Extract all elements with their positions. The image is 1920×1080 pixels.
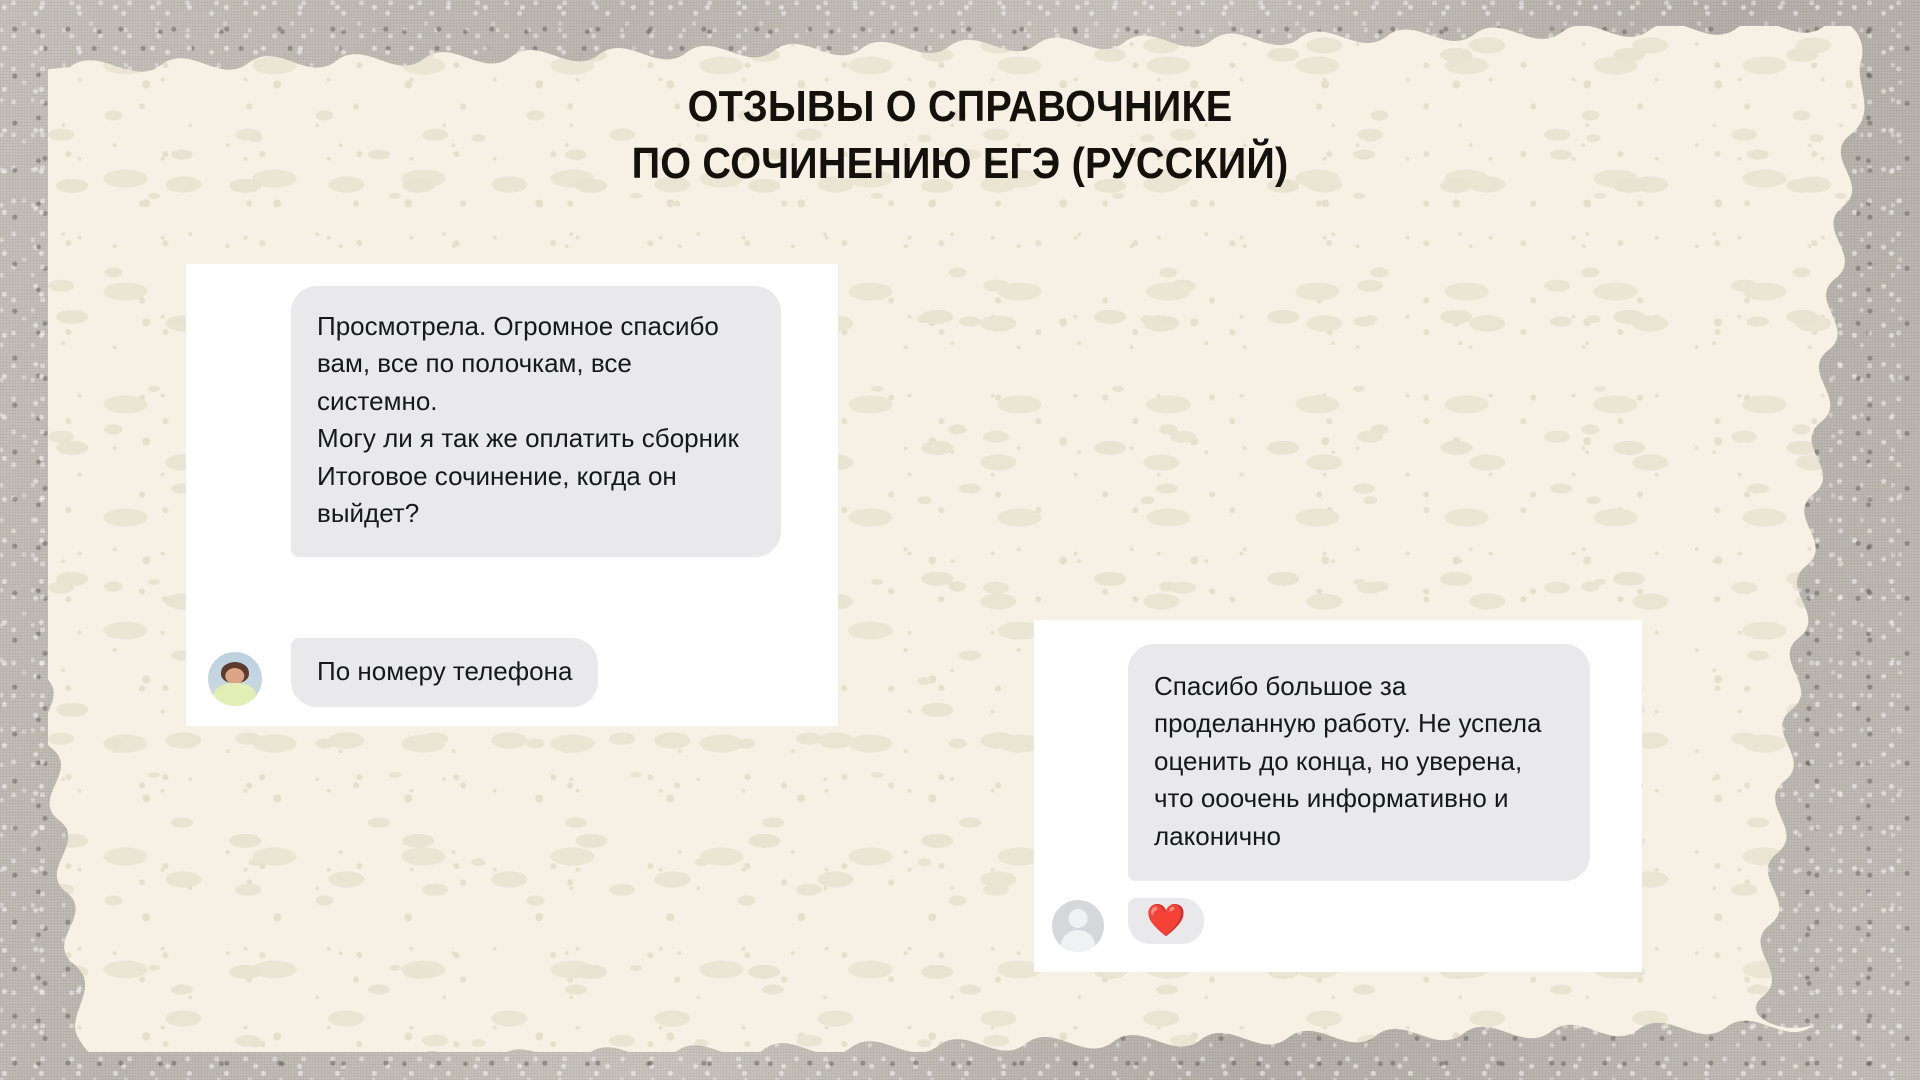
page-title-line-2: ПО СОЧИНЕНИЮ ЕГЭ (РУССКИЙ) — [96, 135, 1824, 192]
avatar-default-person-icon — [1052, 900, 1104, 952]
avatar-placeholder-head — [1069, 909, 1088, 928]
avatar-placeholder-body — [1061, 930, 1095, 952]
chat-bubble-message-3: Спасибо большое за проделанную работу. Н… — [1128, 644, 1590, 881]
chat-bubble-message-2: По номеру телефона — [291, 638, 598, 707]
page-title: ОТЗЫВЫ О СПРАВОЧНИКЕ ПО СОЧИНЕНИЮ ЕГЭ (Р… — [96, 78, 1824, 192]
avatar-woman-photo — [208, 652, 262, 706]
avatar-body-shape — [214, 683, 256, 706]
chat-screenshot-1: Просмотрела. Огромное спасибо вам, все п… — [186, 264, 838, 726]
chat-reaction-heart-icon: ❤️ — [1128, 898, 1204, 944]
chat-bubble-message-1: Просмотрела. Огромное спасибо вам, все п… — [291, 286, 781, 557]
page-title-line-1: ОТЗЫВЫ О СПРАВОЧНИКЕ — [96, 78, 1824, 135]
chat-screenshot-2: Спасибо большое за проделанную работу. Н… — [1034, 620, 1642, 972]
slide-canvas: ОТЗЫВЫ О СПРАВОЧНИКЕ ПО СОЧИНЕНИЮ ЕГЭ (Р… — [0, 0, 1920, 1080]
